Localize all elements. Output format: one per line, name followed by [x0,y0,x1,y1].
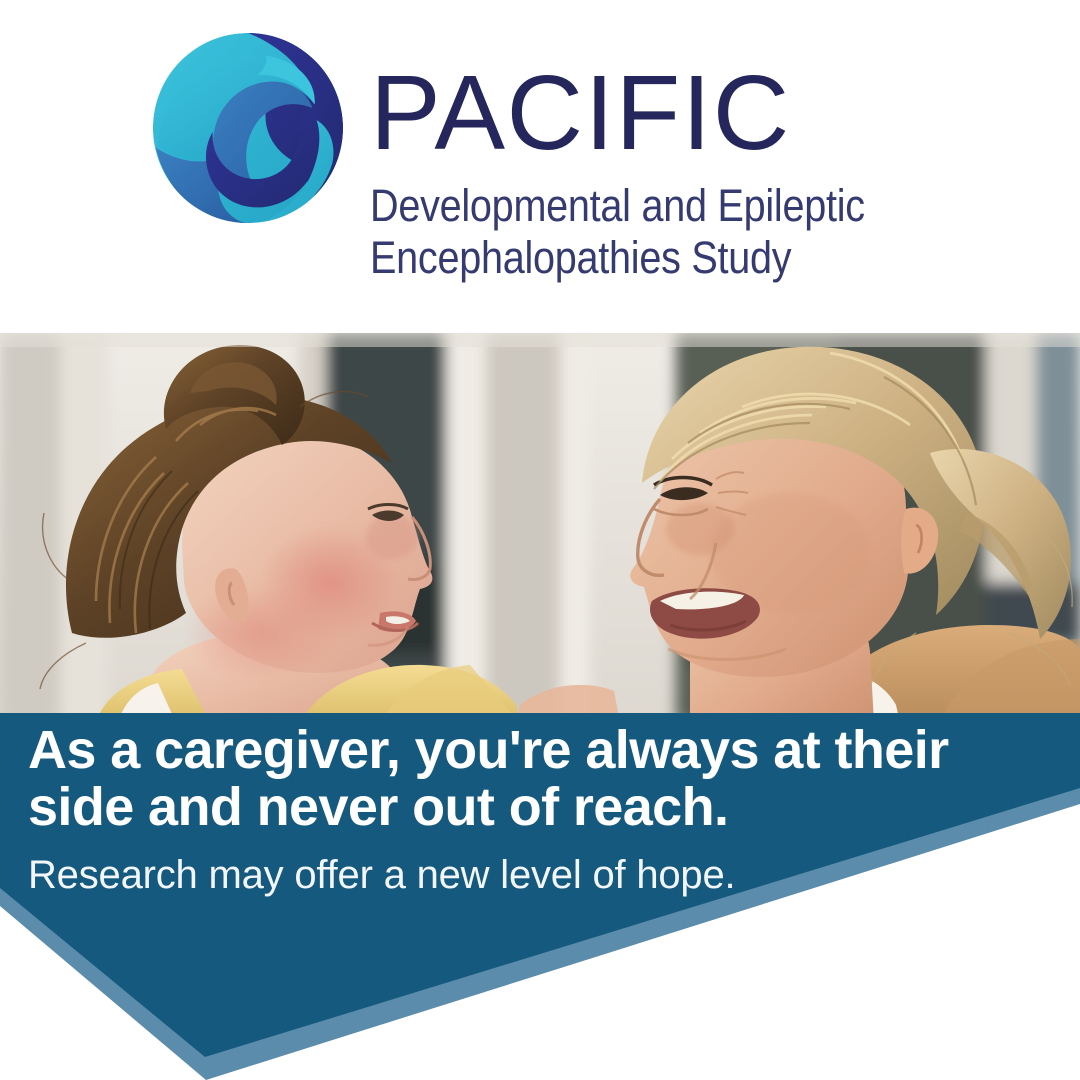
poster-root: PACIFIC Developmental and Epileptic Ence… [0,0,1080,1080]
brand-tagline-line-1: Developmental and Epileptic [370,180,865,233]
brand-tagline: Developmental and Epileptic Encephalopat… [370,180,865,285]
hero-photo [0,333,1080,723]
pacific-logo-lockup[interactable]: PACIFIC Developmental and Epileptic Ence… [150,22,932,285]
header-logo-band: PACIFIC Developmental and Epileptic Ence… [0,0,1080,333]
banner-text-block: As a caregiver, you're always at their s… [28,722,1038,898]
logo-text-block: PACIFIC Developmental and Epileptic Ence… [370,22,932,285]
pacific-swirl-logo-mark [150,30,346,226]
brand-wordmark: PACIFIC [370,64,932,164]
banner-subhead: Research may offer a new level of hope. [28,852,1038,898]
brand-tagline-line-2: Encephalopathies Study [370,232,865,285]
banner-headline: As a caregiver, you're always at their s… [28,722,1038,836]
